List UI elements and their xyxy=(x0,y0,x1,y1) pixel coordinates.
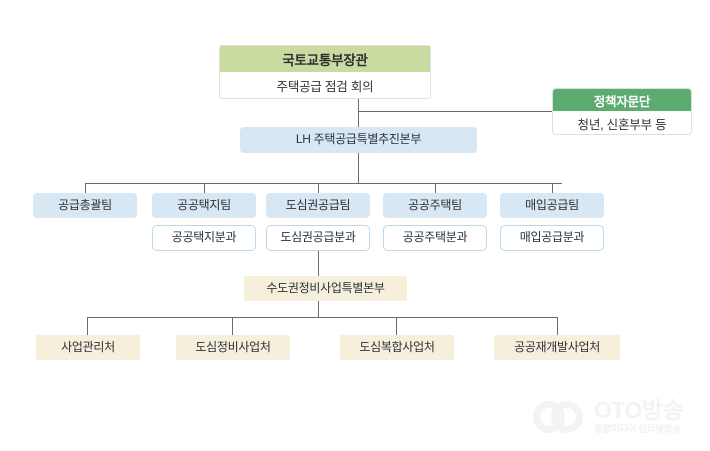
connector-minister-to-advisory xyxy=(358,111,553,112)
connector-team-bus xyxy=(85,183,562,184)
connector-office-3-stub xyxy=(396,317,397,335)
org-chart-canvas: 국토교통부장관 주택공급 점검 회의 정책자문단 청년, 신혼부부 등 LH 주… xyxy=(0,0,710,451)
connector-minister-down xyxy=(358,99,359,130)
connector-office-4-stub xyxy=(557,317,558,335)
node-policy-advisory-group[interactable]: 정책자문단 청년, 신혼부부 등 xyxy=(552,88,692,135)
minister-title: 국토교통부장관 xyxy=(220,46,430,72)
connector-team-3-stub xyxy=(318,183,319,193)
watermark-subtitle: 종합미디어 인터넷방송 xyxy=(594,425,683,435)
node-lh-headquarters[interactable]: LH 주택공급특별추진본부 xyxy=(240,127,477,153)
connector-team-4-stub xyxy=(435,183,436,193)
node-team-public-housing[interactable]: 공공주택팀 xyxy=(383,193,487,218)
node-minister[interactable]: 국토교통부장관 주택공급 점검 회의 xyxy=(219,45,431,99)
watermark-oto-broadcast: OTO방송 종합미디어 인터넷방송 xyxy=(533,392,699,442)
node-division-public-housing[interactable]: 공공주택분과 xyxy=(383,225,487,251)
oto-logo-icon xyxy=(533,398,587,436)
node-division-public-land[interactable]: 공공택지분과 xyxy=(152,225,256,251)
logo-ring-left-icon xyxy=(533,401,565,433)
connector-metro-down xyxy=(318,301,319,317)
node-office-public-redevelopment[interactable]: 공공재개발사업처 xyxy=(494,335,620,360)
node-office-urban-complex[interactable]: 도심복합사업처 xyxy=(340,335,454,360)
connector-team-1-stub xyxy=(85,183,86,193)
logo-ring-right-icon xyxy=(551,401,583,433)
node-division-purchase-supply[interactable]: 매입공급분과 xyxy=(500,225,604,251)
connector-lh-down xyxy=(358,153,359,183)
connector-team-2-stub xyxy=(204,183,205,193)
connector-team-5-stub xyxy=(552,183,553,193)
connector-office-bus xyxy=(87,317,557,318)
node-office-urban-maintenance[interactable]: 도심정비사업처 xyxy=(176,335,290,360)
node-division-urban-supply[interactable]: 도심권공급분과 xyxy=(266,225,370,251)
connector-division-to-metro xyxy=(318,251,319,276)
node-team-purchase-supply[interactable]: 매입공급팀 xyxy=(500,193,604,218)
advisory-members-label: 청년, 신혼부부 등 xyxy=(553,111,691,135)
connector-office-2-stub xyxy=(232,317,233,335)
connector-office-1-stub xyxy=(87,317,88,335)
advisory-title: 정책자문단 xyxy=(553,89,691,111)
node-team-supply-general[interactable]: 공급총괄팀 xyxy=(33,193,137,218)
node-metro-maintenance-hq[interactable]: 수도권정비사업특별본부 xyxy=(244,276,407,301)
watermark-title: OTO방송 xyxy=(594,399,683,422)
node-team-urban-supply[interactable]: 도심권공급팀 xyxy=(266,193,370,218)
minister-meeting-label: 주택공급 점검 회의 xyxy=(220,72,430,99)
node-team-public-land[interactable]: 공공택지팀 xyxy=(152,193,256,218)
watermark-text: OTO방송 종합미디어 인터넷방송 xyxy=(594,399,683,435)
node-office-project-management[interactable]: 사업관리처 xyxy=(36,335,140,360)
